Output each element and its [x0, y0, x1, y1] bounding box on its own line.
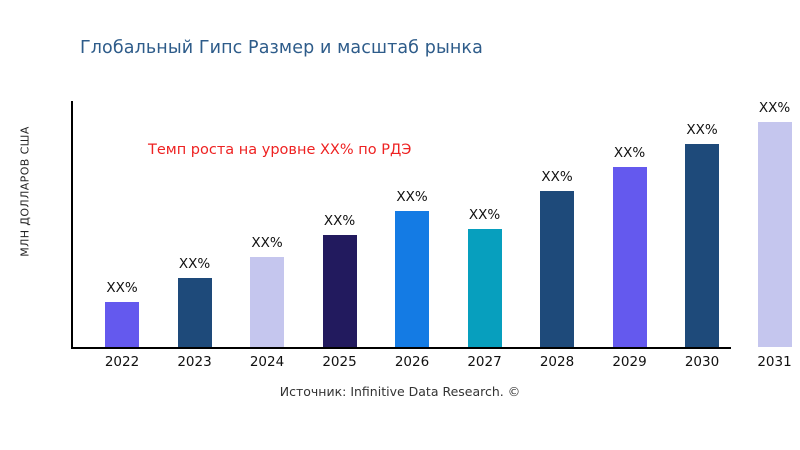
- bar-2031[interactable]: [758, 122, 792, 347]
- bar-value-label-2026: XX%: [382, 189, 442, 205]
- bar-group[interactable]: XX%: [613, 167, 647, 347]
- bar-value-label-2023: XX%: [165, 256, 225, 272]
- bar-value-label-2029: XX%: [600, 145, 660, 161]
- bar-group[interactable]: XX%: [395, 211, 429, 347]
- bar-group[interactable]: XX%: [178, 278, 212, 347]
- bar-group[interactable]: XX%: [250, 257, 284, 347]
- x-tick-2029: 2029: [600, 354, 660, 370]
- x-tick-2030: 2030: [672, 354, 732, 370]
- bar-group[interactable]: XX%: [758, 122, 792, 347]
- bar-2023[interactable]: [178, 278, 212, 347]
- bar-value-label-2031: XX%: [745, 100, 800, 116]
- x-tick-2031: 2031: [745, 354, 800, 370]
- x-tick-2025: 2025: [310, 354, 370, 370]
- source-note: Источник: Infinitive Data Research. ©: [0, 384, 800, 399]
- bar-2027[interactable]: [468, 229, 502, 347]
- x-tick-2027: 2027: [455, 354, 515, 370]
- bar-value-label-2027: XX%: [455, 207, 515, 223]
- bar-group[interactable]: XX%: [685, 144, 719, 347]
- x-tick-2028: 2028: [527, 354, 587, 370]
- x-tick-2022: 2022: [92, 354, 152, 370]
- x-tick-2024: 2024: [237, 354, 297, 370]
- bar-value-label-2022: XX%: [92, 280, 152, 296]
- chart-container: Глобальный Гипс Размер и масштаб рынка М…: [0, 0, 800, 450]
- bar-group[interactable]: XX%: [540, 191, 574, 347]
- bar-2030[interactable]: [685, 144, 719, 347]
- bar-value-label-2024: XX%: [237, 235, 297, 251]
- y-axis-label: МЛН ДОЛЛАРОВ США: [19, 92, 32, 292]
- bar-2029[interactable]: [613, 167, 647, 347]
- bar-2024[interactable]: [250, 257, 284, 347]
- x-tick-2026: 2026: [382, 354, 442, 370]
- bar-2025[interactable]: [323, 235, 357, 347]
- bar-group[interactable]: XX%: [105, 302, 139, 347]
- bar-2028[interactable]: [540, 191, 574, 347]
- bar-2026[interactable]: [395, 211, 429, 347]
- x-tick-2023: 2023: [165, 354, 225, 370]
- bar-value-label-2025: XX%: [310, 213, 370, 229]
- bar-value-label-2030: XX%: [672, 122, 732, 138]
- bar-2022[interactable]: [105, 302, 139, 347]
- bar-group[interactable]: XX%: [323, 235, 357, 347]
- bar-value-label-2028: XX%: [527, 169, 587, 185]
- bar-group[interactable]: XX%: [468, 229, 502, 347]
- chart-title: Глобальный Гипс Размер и масштаб рынка: [80, 38, 483, 58]
